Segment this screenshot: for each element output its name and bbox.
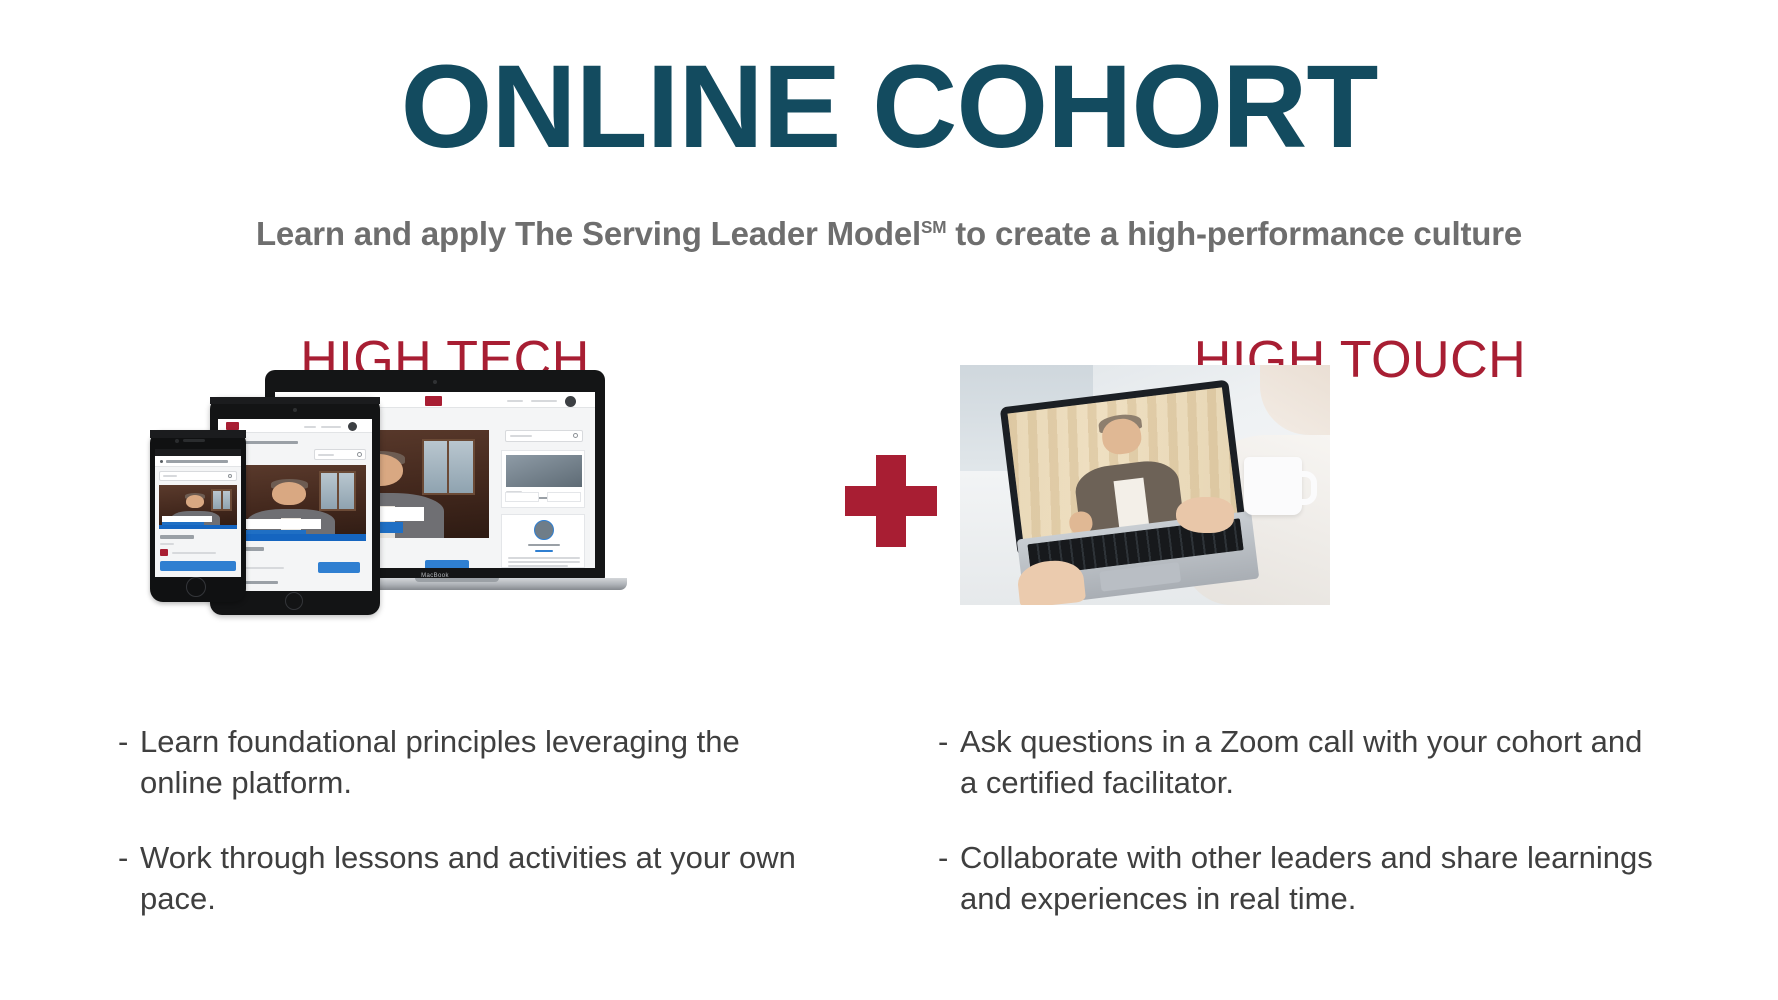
nav-home-link[interactable] (507, 400, 523, 402)
subtitle-text-before: Learn and apply The Serving Leader Model (256, 215, 921, 252)
list-item: - Ask questions in a Zoom call with your… (938, 722, 1658, 804)
video-name-banner (162, 516, 212, 522)
previous-button[interactable] (505, 492, 539, 502)
macbook-camera-icon (433, 380, 437, 384)
bullet-dash: - (118, 838, 140, 920)
ipad-statusbar (210, 397, 380, 404)
instructor-role (535, 550, 553, 552)
breadcrumb[interactable] (166, 460, 228, 463)
iphone-carrier-bar (155, 449, 241, 456)
search-placeholder (318, 454, 334, 456)
list-item: - Work through lessons and activities at… (118, 838, 808, 920)
instructor-avatar (534, 520, 554, 540)
nav-home-link[interactable] (304, 426, 316, 428)
bullet-text: Work through lessons and activities at y… (140, 838, 808, 920)
video-speaker-head (186, 495, 205, 508)
brand-logo-icon (226, 422, 239, 430)
list-item: - Collaborate with other leaders and sha… (938, 838, 1658, 920)
instructor-bio-line (508, 561, 580, 563)
next-button[interactable] (547, 492, 581, 502)
avatar[interactable] (348, 422, 357, 431)
slide-root: ONLINE COHORT Learn and apply The Servin… (0, 0, 1778, 1000)
video-controls-bar[interactable] (159, 525, 237, 529)
bullet-text: Ask questions in a Zoom call with your c… (960, 722, 1658, 804)
iphone-screen (155, 449, 241, 577)
photo-trackpad (1099, 562, 1181, 592)
video-window-background (211, 489, 231, 512)
course-video-player[interactable] (159, 485, 237, 529)
iphone-speaker-icon (183, 439, 205, 442)
section-title (160, 535, 194, 539)
video-speaker-head (272, 482, 306, 505)
high-touch-bullet-list: - Ask questions in a Zoom call with your… (938, 722, 1658, 954)
search-icon (573, 433, 578, 438)
video-window-background (422, 439, 475, 495)
bullet-text: Learn foundational principles leveraging… (140, 722, 808, 804)
device-mockup-cluster: MacBook (150, 375, 710, 625)
bullet-dash: - (118, 722, 140, 804)
plus-bar-vertical (876, 455, 906, 547)
photo-coffee-mug (1244, 457, 1302, 515)
photo-shoulder (1260, 365, 1330, 435)
mark-complete-button[interactable] (318, 562, 360, 573)
photo-user-right-hand (1176, 497, 1234, 533)
page-subtitle: Learn and apply The Serving Leader Model… (0, 215, 1778, 253)
high-touch-photo (960, 365, 1330, 605)
macbook-notch (415, 578, 499, 582)
mark-complete-button[interactable] (160, 561, 236, 571)
list-item: - Learn foundational principles leveragi… (118, 722, 808, 804)
search-placeholder (163, 475, 177, 477)
page-title: ONLINE COHORT (0, 48, 1778, 166)
nav-library-link[interactable] (321, 426, 341, 428)
bullet-dash: - (938, 722, 960, 804)
subtitle-text-after: to create a high-performance culture (946, 215, 1522, 252)
instructor-bio-line (508, 557, 580, 559)
nav-library-link[interactable] (531, 400, 557, 402)
instructor-name (528, 544, 560, 546)
ipad-camera-icon (293, 408, 297, 412)
brand-logo-icon (425, 396, 442, 406)
ipad-home-button[interactable] (285, 592, 303, 610)
video-window-background (319, 471, 356, 511)
subtitle-servicemark: SM (921, 217, 946, 237)
high-tech-bullet-list: - Learn foundational principles leveragi… (118, 722, 808, 954)
bullet-dash: - (938, 838, 960, 920)
iphone-home-button[interactable] (186, 577, 206, 597)
page-label (160, 543, 174, 545)
iphone-mockup (150, 430, 246, 602)
search-placeholder (510, 435, 532, 437)
search-icon (228, 474, 232, 478)
search-icon (357, 452, 362, 457)
course-label (172, 552, 216, 554)
back-chevron-icon[interactable] (160, 460, 163, 463)
course-badge-icon (160, 549, 168, 556)
bullet-text: Collaborate with other leaders and share… (960, 838, 1658, 920)
instructor-photo (506, 455, 582, 487)
iphone-statusbar (150, 430, 246, 438)
plus-icon (845, 455, 937, 547)
iphone-camera-icon (175, 439, 179, 443)
instructor-bio-card (501, 514, 585, 568)
mark-complete-button[interactable] (425, 560, 469, 568)
instructor-bio-line (508, 565, 568, 567)
avatar[interactable] (565, 396, 576, 407)
